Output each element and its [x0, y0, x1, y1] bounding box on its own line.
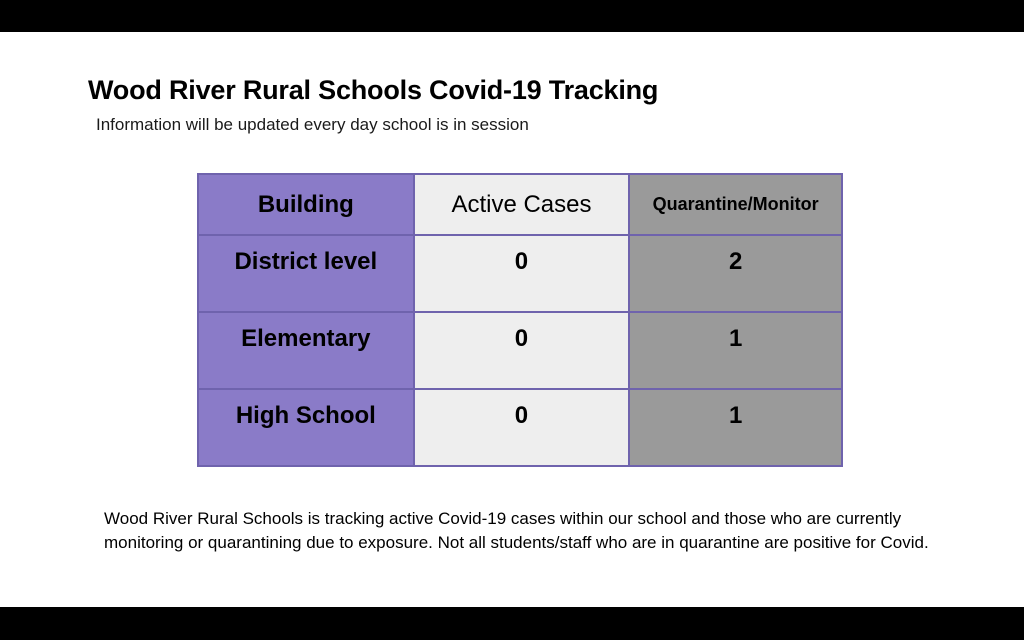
cell-active-cases-value: 0 — [415, 236, 629, 276]
cell-building-high-school: High School — [198, 389, 414, 466]
slide-frame: Wood River Rural Schools Covid-19 Tracki… — [0, 0, 1024, 640]
cell-quarantine-value: 1 — [630, 313, 841, 353]
footnote-text: Wood River Rural Schools is tracking act… — [104, 507, 979, 555]
cell-active-cases-value: 0 — [415, 313, 629, 353]
letterbox-bar-top — [0, 0, 1024, 32]
cell-quarantine-elementary: 1 — [629, 312, 842, 389]
cell-active-cases-value: 0 — [415, 390, 629, 430]
column-header-quarantine-monitor: Quarantine/Monitor — [629, 174, 842, 235]
letterbox-bar-bottom — [0, 607, 1024, 640]
cell-quarantine-value: 2 — [630, 236, 841, 276]
page-subtitle: Information will be updated every day sc… — [96, 115, 529, 135]
slide-content: Wood River Rural Schools Covid-19 Tracki… — [0, 32, 1024, 607]
column-header-active-cases-label: Active Cases — [415, 191, 629, 219]
cell-building-elementary: Elementary — [198, 312, 414, 389]
cell-active-cases-elementary: 0 — [414, 312, 630, 389]
column-header-building: Building — [198, 174, 414, 235]
cell-building-label: High School — [199, 390, 413, 430]
table-header-row: Building Active Cases Quarantine/Monitor — [198, 174, 842, 235]
cell-quarantine-high-school: 1 — [629, 389, 842, 466]
cell-building-label: Elementary — [199, 313, 413, 353]
cell-active-cases-district-level: 0 — [414, 235, 630, 312]
cell-building-district-level: District level — [198, 235, 414, 312]
page-title: Wood River Rural Schools Covid-19 Tracki… — [88, 75, 658, 106]
column-header-active-cases: Active Cases — [414, 174, 630, 235]
table-row: High School 0 1 — [198, 389, 842, 466]
cell-quarantine-value: 1 — [630, 390, 841, 430]
cell-building-label: District level — [199, 236, 413, 276]
cell-quarantine-district-level: 2 — [629, 235, 842, 312]
table-row: Elementary 0 1 — [198, 312, 842, 389]
column-header-quarantine-monitor-label: Quarantine/Monitor — [630, 194, 841, 215]
table-row: District level 0 2 — [198, 235, 842, 312]
covid-tracking-table: Building Active Cases Quarantine/Monitor… — [197, 173, 843, 467]
cell-active-cases-high-school: 0 — [414, 389, 630, 466]
column-header-building-label: Building — [199, 191, 413, 219]
